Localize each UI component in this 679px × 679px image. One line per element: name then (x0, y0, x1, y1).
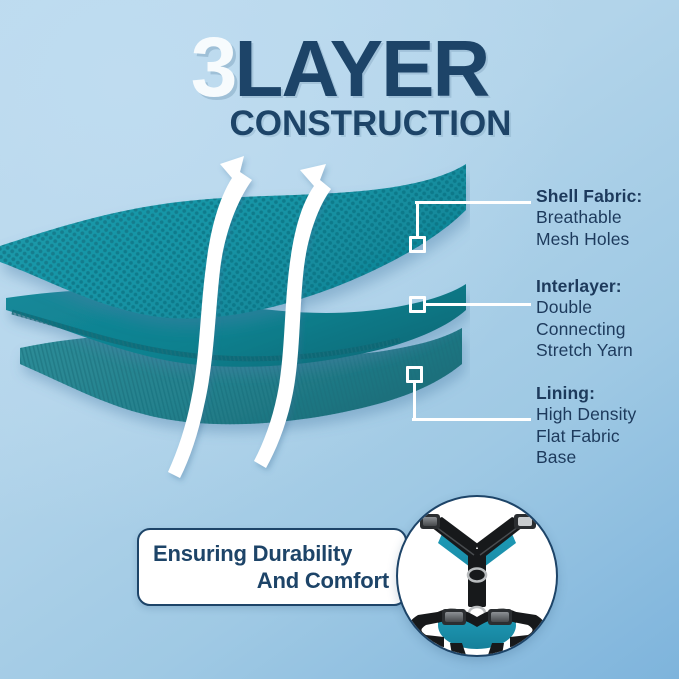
callout-interlayer-line-2: Connecting (536, 319, 633, 341)
lining-connector-vertical (413, 382, 416, 421)
callout-shell-line-1: Breathable (536, 207, 642, 229)
title-block: 3LAYER CONSTRUCTION (0, 28, 679, 138)
callout-shell-fabric: Shell Fabric: Breathable Mesh Holes (536, 186, 642, 250)
tagline-box: Ensuring Durability And Comfort (137, 528, 407, 606)
tagline-line-2: And Comfort (153, 567, 389, 594)
title-word: LAYER (234, 24, 488, 113)
title-subtitle: CONSTRUCTION (0, 104, 679, 144)
shell-fabric-connector-vertical (416, 201, 419, 239)
lining-marker[interactable] (406, 366, 423, 383)
title-number: 3 (191, 20, 235, 114)
callout-lining: Lining: High Density Flat Fabric Base (536, 383, 636, 469)
callout-shell-line-2: Mesh Holes (536, 229, 642, 251)
callout-interlayer-heading: Interlayer: (536, 276, 633, 297)
shell-fabric-connector-horizontal (415, 201, 531, 204)
callout-interlayer: Interlayer: Double Connecting Stretch Ya… (536, 276, 633, 362)
interlayer-connector-horizontal (424, 303, 531, 306)
callout-interlayer-line-1: Double (536, 297, 633, 319)
callout-shell-heading: Shell Fabric: (536, 186, 642, 207)
callout-lining-line-2: Flat Fabric (536, 426, 636, 448)
infographic-canvas: 3LAYER CONSTRUCTION (0, 0, 679, 679)
callout-lining-heading: Lining: (536, 383, 636, 404)
tagline-line-1: Ensuring Durability (153, 540, 389, 567)
callout-lining-line-1: High Density (536, 404, 636, 426)
lining-connector-horizontal (412, 418, 531, 421)
callout-interlayer-line-3: Stretch Yarn (536, 340, 633, 362)
title-main-row: 3LAYER (0, 28, 679, 106)
callout-lining-line-3: Base (536, 447, 636, 469)
product-image-circle (396, 495, 558, 657)
fabric-layers-illustration (0, 150, 470, 500)
dog-harness-illustration (398, 497, 556, 655)
